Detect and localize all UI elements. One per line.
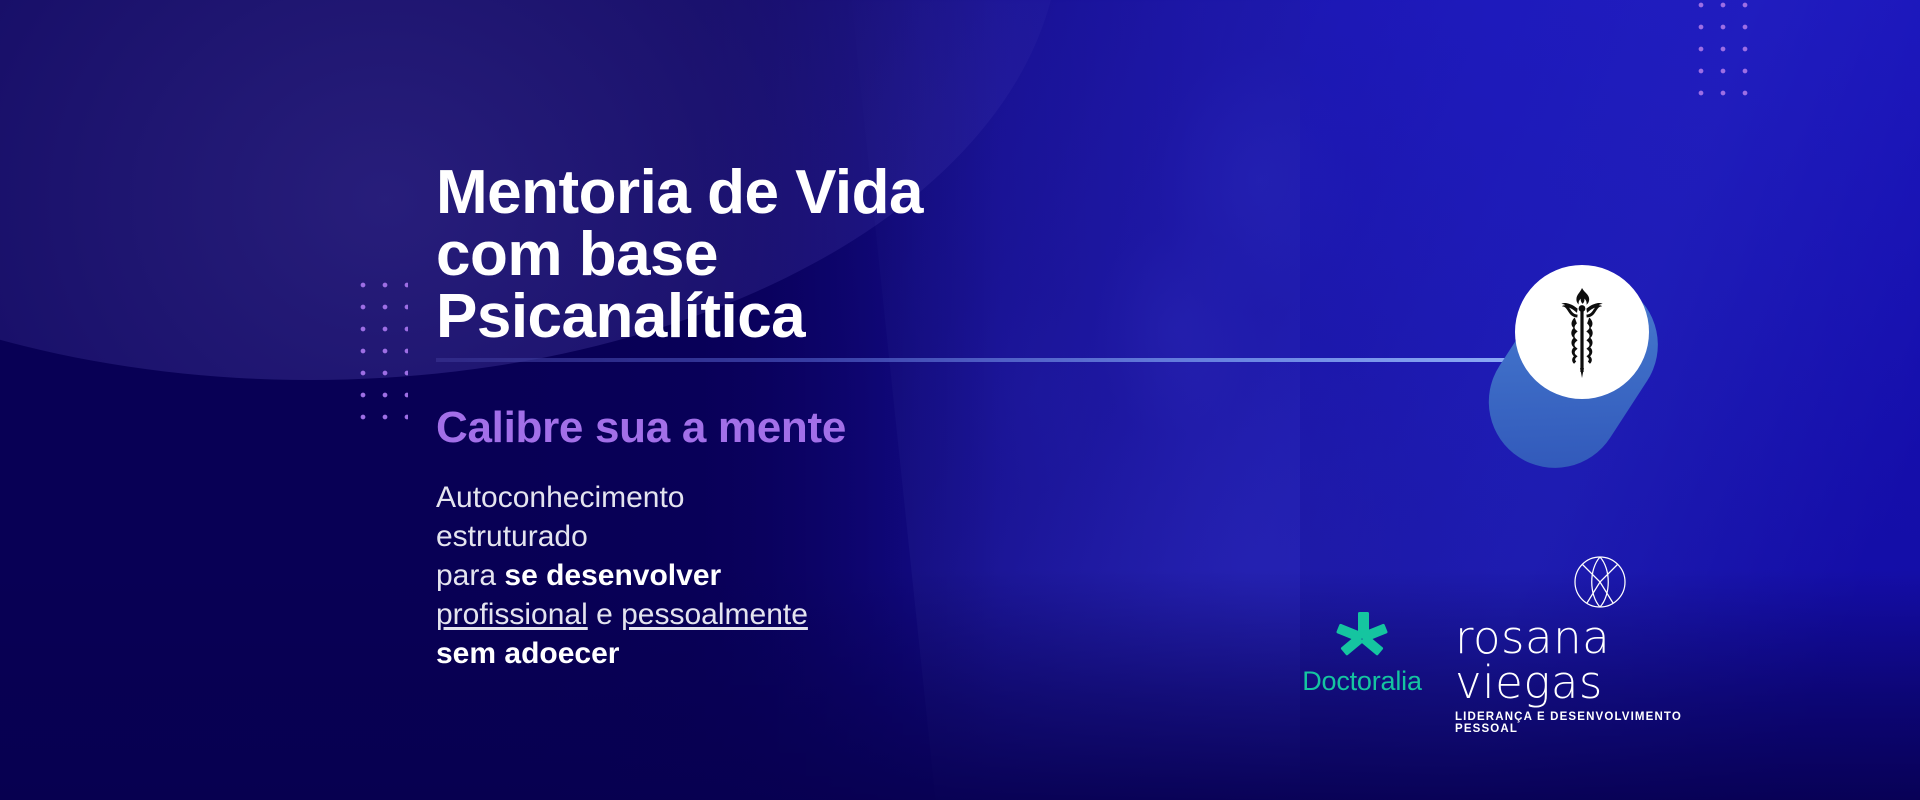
caduceus-badge bbox=[1510, 265, 1720, 495]
body-line-5: sem adoecer bbox=[436, 634, 808, 673]
doctoralia-wordmark: Doctoralia bbox=[1302, 668, 1422, 695]
body-line-2: estruturado bbox=[436, 517, 808, 556]
promo-banner: Mentoria de Vida com base Psicanalítica … bbox=[0, 0, 1920, 800]
body-copy: Autoconhecimento estruturado para se des… bbox=[436, 478, 808, 673]
rosana-viegas-monogram-icon bbox=[1573, 555, 1627, 609]
subheadline: Calibre sua a mente bbox=[436, 405, 846, 451]
body-line-3: para se desenvolver bbox=[436, 556, 808, 595]
divider-rule bbox=[436, 358, 1511, 362]
banner-content: Mentoria de Vida com base Psicanalítica … bbox=[0, 0, 1920, 800]
body-line-5-emphasis: sem adoecer bbox=[436, 637, 619, 670]
headline: Mentoria de Vida com base Psicanalítica bbox=[436, 162, 1196, 348]
body-line-3-prefix: para bbox=[436, 559, 504, 592]
caduceus-icon bbox=[1544, 284, 1620, 380]
body-line-4: profissional e pessoalmente bbox=[436, 595, 808, 634]
rosana-viegas-tagline: LIDERANÇA E DESENVOLVIMENTO PESSOAL bbox=[1455, 712, 1745, 735]
headline-line-1: Mentoria de Vida bbox=[436, 162, 1196, 224]
body-link-profissional: profissional bbox=[436, 598, 588, 631]
headline-line-3: Psicanalítica bbox=[436, 286, 1196, 348]
doctoralia-asterisk-icon bbox=[1333, 612, 1391, 664]
headline-line-2: com base bbox=[436, 224, 1196, 286]
doctoralia-logo: Doctoralia bbox=[1292, 612, 1432, 695]
body-line-3-emphasis: se desenvolver bbox=[504, 559, 721, 592]
rosana-viegas-logo: rosana viegas LIDERANÇA E DESENVOLVIMENT… bbox=[1455, 555, 1745, 735]
badge-circle bbox=[1515, 265, 1649, 399]
body-line-4-conjunction: e bbox=[588, 598, 621, 631]
body-line-1: Autoconhecimento bbox=[436, 478, 808, 517]
rosana-viegas-name: rosana viegas bbox=[1455, 615, 1745, 705]
body-link-pessoalmente: pessoalmente bbox=[621, 598, 808, 631]
